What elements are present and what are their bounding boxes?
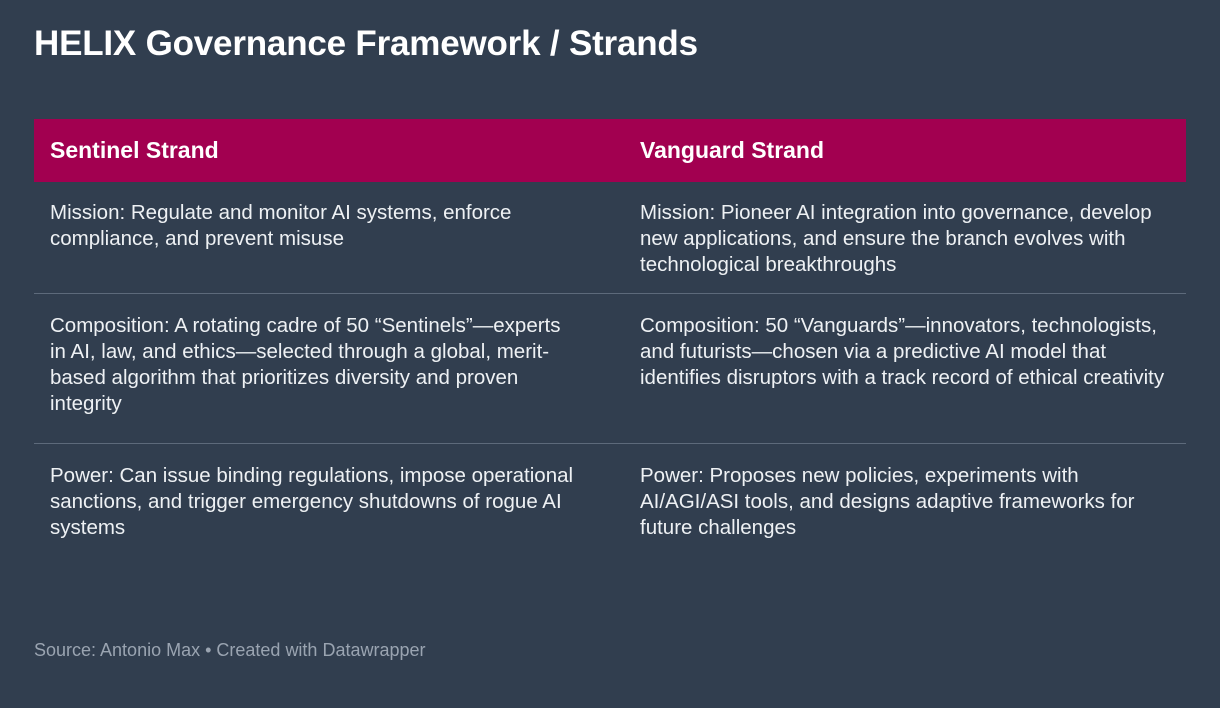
table-header: Sentinel Strand Vanguard Strand — [34, 119, 1186, 182]
table-row: Power: Can issue binding regulations, im… — [34, 444, 1186, 562]
table-row: Mission: Regulate and monitor AI systems… — [34, 182, 1186, 294]
strand-table: Sentinel Strand Vanguard Strand Mission:… — [34, 119, 1186, 561]
table-body: Mission: Regulate and monitor AI systems… — [34, 182, 1186, 561]
cell-vanguard-composition: Composition: 50 “Vanguards”—innovators, … — [620, 294, 1186, 444]
cell-vanguard-mission: Mission: Pioneer AI integration into gov… — [620, 182, 1186, 294]
table-header-row: Sentinel Strand Vanguard Strand — [34, 119, 1186, 182]
cell-sentinel-mission: Mission: Regulate and monitor AI systems… — [34, 182, 620, 294]
column-header-sentinel-strand[interactable]: Sentinel Strand — [34, 119, 620, 182]
cell-vanguard-power: Power: Proposes new policies, experiment… — [620, 444, 1186, 562]
column-header-vanguard-strand[interactable]: Vanguard Strand — [620, 119, 1186, 182]
table-row: Composition: A rotating cadre of 50 “Sen… — [34, 294, 1186, 444]
page-title: HELIX Governance Framework / Strands — [34, 22, 1184, 66]
chart-root: HELIX Governance Framework / Strands Sen… — [0, 0, 1220, 708]
source-note: Source: Antonio Max • Created with Dataw… — [34, 638, 426, 662]
cell-sentinel-power: Power: Can issue binding regulations, im… — [34, 444, 620, 562]
strand-table-container: Sentinel Strand Vanguard Strand Mission:… — [34, 119, 1186, 561]
title-block: HELIX Governance Framework / Strands — [34, 22, 1184, 66]
cell-sentinel-composition: Composition: A rotating cadre of 50 “Sen… — [34, 294, 620, 444]
